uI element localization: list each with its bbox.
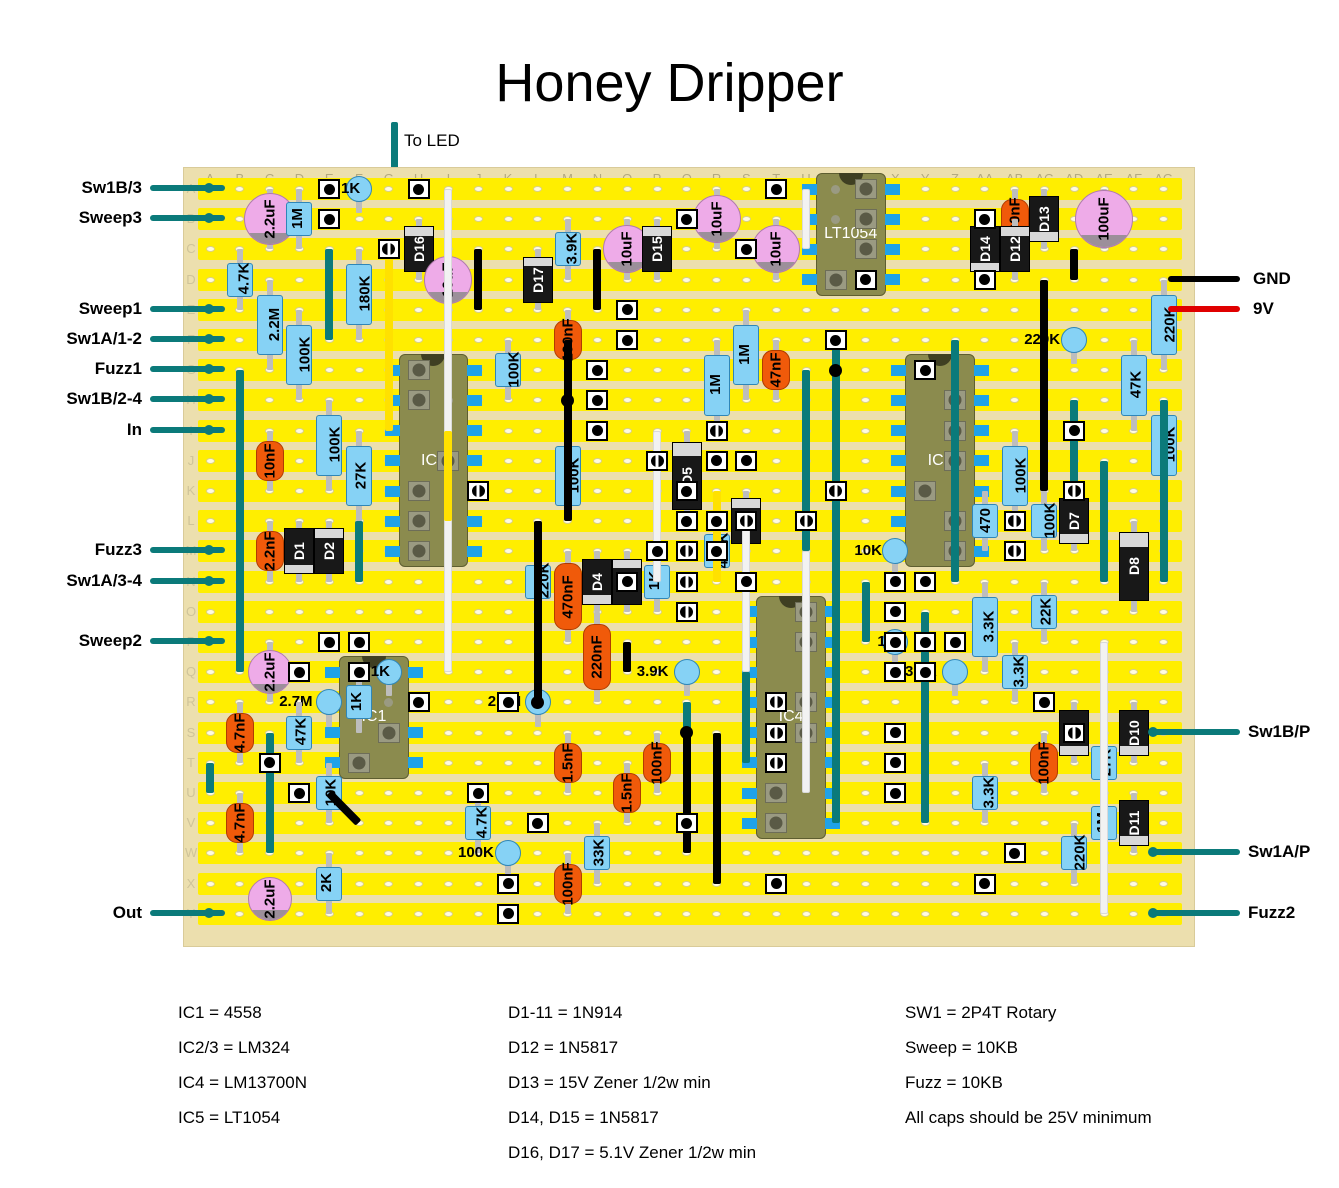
resistor-1M: 1M: [704, 355, 730, 416]
capacitor-1.5nF: 1.5nF: [554, 743, 582, 783]
track-cut: [855, 270, 877, 290]
cut-marker: [681, 486, 692, 497]
hole: [295, 639, 304, 645]
hole: [384, 881, 393, 887]
ic-pin-left: [802, 274, 817, 285]
cut-marker: [979, 214, 990, 225]
cut-marker: [413, 184, 424, 195]
cut-marker: [830, 335, 841, 346]
hole: [1129, 458, 1138, 464]
hole: [504, 488, 513, 494]
hole: [623, 428, 632, 434]
resistor-33K: 33K: [584, 836, 610, 870]
terminal-wire-fuzz2: [1150, 910, 1240, 916]
hole: [504, 730, 513, 736]
diode-D17: D17: [523, 257, 553, 303]
resistor-value: 1M: [736, 344, 753, 365]
capacitor-value: 2.2uF: [261, 200, 278, 239]
jumper-link: [951, 340, 959, 582]
cut-marker: [503, 878, 514, 889]
resistor-value: 10K: [854, 542, 882, 559]
resistor-value: 180K: [356, 276, 373, 312]
track-cut: [318, 179, 340, 199]
capacitor-value: 2.2uF: [261, 653, 278, 692]
hole: [474, 186, 483, 192]
hole: [1070, 669, 1079, 675]
track-cut: [616, 572, 638, 592]
hole: [206, 518, 215, 524]
hole: [384, 609, 393, 615]
hole: [295, 458, 304, 464]
hole: [623, 367, 632, 373]
diode-label: D7: [1066, 512, 1082, 530]
hole: [1070, 367, 1079, 373]
resistor-value: 100K: [327, 427, 344, 463]
cut-marker: [890, 576, 901, 587]
capacitor-value: 470nF: [559, 575, 576, 618]
hole: [1129, 307, 1138, 313]
socket-hole: [412, 485, 425, 498]
hole: [474, 579, 483, 585]
hole: [980, 730, 989, 736]
terminal-pad: [204, 304, 214, 314]
hole: [653, 820, 662, 826]
hole: [1070, 609, 1079, 615]
cut-marker: [592, 395, 603, 406]
to-led-label: To LED: [404, 131, 460, 151]
resistor-220K: [1061, 327, 1087, 353]
ic-socket-pin: [914, 481, 936, 501]
jumper-link: [742, 672, 750, 763]
hole: [861, 730, 870, 736]
cut-marker: [860, 274, 871, 285]
track-cut: [825, 481, 847, 501]
hole: [1129, 911, 1138, 917]
cut-marker: [324, 637, 335, 648]
cathode-band: [524, 258, 552, 267]
vero-layout-diagram: Honey Dripper To LED ABCDEFGHIJKLMNOPQRS…: [0, 0, 1339, 1188]
jumper-link: [862, 582, 870, 642]
diode-label: D8: [1126, 558, 1142, 576]
hole: [474, 609, 483, 615]
wire-black: [1070, 249, 1078, 279]
hole: [921, 911, 930, 917]
hole: [831, 911, 840, 917]
hole: [474, 881, 483, 887]
ic-pin-left: [891, 516, 906, 527]
hole: [1100, 337, 1109, 343]
legend-line: IC4 = LM13700N: [178, 1065, 307, 1100]
capacitor-value: 47nF: [768, 353, 785, 388]
track-cut: [616, 330, 638, 350]
hole: [414, 609, 423, 615]
hole: [772, 579, 781, 585]
hole: [474, 730, 483, 736]
hole: [295, 911, 304, 917]
diode-label: D2: [321, 542, 337, 560]
row-label-S: S: [185, 725, 197, 740]
capacitor-47nF: 47nF: [762, 350, 790, 390]
socket-hole: [859, 243, 872, 256]
cut-marker: [681, 214, 692, 225]
row-label-R: R: [185, 694, 197, 709]
track-cut: [884, 572, 906, 592]
hole: [504, 609, 513, 615]
terminal-pad: [1148, 908, 1158, 918]
hole: [951, 730, 960, 736]
ic-pin-right: [408, 727, 423, 738]
diode-D8: D8: [1119, 532, 1149, 601]
resistor-100K: 100K: [495, 353, 521, 387]
hole: [1010, 579, 1019, 585]
resistor-100K: 100K: [1002, 446, 1028, 507]
legend-column-3: SW1 = 2P4T RotarySweep = 10KBFuzz = 10KB…: [905, 995, 1152, 1135]
terminal-wire-9v: [1168, 306, 1240, 312]
hole: [1100, 277, 1109, 283]
wire-white: [802, 189, 810, 249]
track-cut: [288, 662, 310, 682]
hole: [414, 911, 423, 917]
resistor-value: 3.3K: [980, 610, 997, 642]
hole: [444, 881, 453, 887]
jumper-link: [206, 763, 214, 793]
track-cut: [348, 662, 370, 682]
cut-marker: [800, 515, 813, 527]
socket-hole: [412, 364, 425, 377]
legend-line: IC5 = LT1054: [178, 1100, 307, 1135]
cut-marker: [920, 365, 931, 376]
wire-white: [802, 551, 810, 793]
row-label-J: J: [185, 453, 197, 468]
hole: [1159, 881, 1168, 887]
socket-hole: [770, 787, 783, 800]
hole: [504, 518, 513, 524]
track-cut: [974, 270, 996, 290]
cut-marker: [711, 455, 722, 466]
diode-D1: D1: [284, 528, 314, 574]
terminal-wire-sw1b-p: [1150, 729, 1240, 735]
cathode-band: [1060, 746, 1088, 755]
row-label-V: V: [185, 815, 197, 830]
hole: [593, 488, 602, 494]
legend-line: IC1 = 4558: [178, 995, 307, 1030]
cut-marker: [829, 485, 842, 497]
cut-marker: [1008, 515, 1021, 527]
cut-marker: [890, 727, 901, 738]
hole: [206, 730, 215, 736]
capacitor-value: 10uF: [708, 202, 725, 237]
track-cut: [676, 511, 698, 531]
jumper-link: [236, 370, 244, 672]
diode-label: D15: [649, 237, 665, 263]
terminal-label-9v: 9V: [1253, 299, 1274, 319]
resistor-3.9K: [942, 659, 968, 685]
legend-column-2: D1-11 = 1N914D12 = 1N5817D13 = 15V Zener…: [508, 995, 756, 1170]
hole: [504, 790, 513, 796]
ic-socket-pin: [855, 209, 877, 229]
terminal-label-in: In: [0, 420, 142, 440]
diode-label: D12: [1007, 237, 1023, 263]
terminal-pad: [1148, 727, 1158, 737]
track-cut: [318, 209, 340, 229]
terminal-pad: [204, 183, 214, 193]
terminal-label-fuzz2: Fuzz2: [1248, 903, 1295, 923]
terminal-label-sw1b-p: Sw1B/P: [1248, 722, 1310, 742]
cut-marker: [979, 274, 990, 285]
hole: [861, 458, 870, 464]
hole: [593, 760, 602, 766]
resistor-value: 4.7K: [474, 807, 491, 839]
cut-marker: [920, 576, 931, 587]
track-cut: [914, 572, 936, 592]
capacitor-100nF: 100nF: [643, 743, 671, 783]
hole: [593, 458, 602, 464]
hole: [980, 911, 989, 917]
wire-black: [623, 642, 631, 672]
track-cut: [765, 753, 787, 773]
track-cut: [676, 541, 698, 561]
ic-socket-pin: [855, 239, 877, 259]
ic-socket-pin: [765, 813, 787, 833]
hole: [742, 881, 751, 887]
cut-marker: [622, 576, 633, 587]
jumper-link: [1100, 461, 1108, 582]
hole: [891, 881, 900, 887]
capacitor-value: 220nF: [589, 635, 606, 678]
track-cut: [735, 451, 757, 471]
ic-pin-left: [891, 395, 906, 406]
socket-hole: [770, 817, 783, 830]
diode-label: D1: [291, 542, 307, 560]
resistor-value: 100K: [1012, 457, 1029, 493]
resistor-value: 1K: [348, 692, 365, 711]
socket-hole: [859, 183, 872, 196]
cut-marker: [741, 455, 752, 466]
wire-yellow: [444, 431, 452, 522]
track-cut: [884, 662, 906, 682]
capacitor-value: 4.7nF: [231, 804, 248, 843]
electrolytic-cap-10uF: 10uF: [693, 195, 741, 243]
hole: [206, 277, 215, 283]
resistor-value: 1M: [707, 374, 724, 395]
track-cut: [259, 753, 281, 773]
hole: [414, 881, 423, 887]
hole: [295, 881, 304, 887]
track-cut: [765, 179, 787, 199]
hole: [414, 307, 423, 313]
track-cut: [586, 360, 608, 380]
row-label-K: K: [185, 483, 197, 498]
ic-pin-right: [467, 425, 482, 436]
cut-marker: [680, 545, 693, 557]
terminal-label-sweep2: Sweep2: [0, 631, 142, 651]
track-cut: [586, 390, 608, 410]
track-cut: [467, 481, 489, 501]
cut-marker: [741, 576, 752, 587]
diode-D12: D12: [1000, 226, 1030, 272]
hole: [474, 911, 483, 917]
hole: [772, 911, 781, 917]
terminal-label-sweep1: Sweep1: [0, 299, 142, 319]
diode-D2: D2: [314, 528, 344, 574]
socket-hole: [829, 273, 842, 286]
resistor-100K: 100K: [1031, 504, 1057, 538]
hole: [325, 367, 334, 373]
cut-marker: [771, 184, 782, 195]
socket-hole: [382, 726, 395, 739]
track-cut: [735, 511, 757, 531]
hole: [474, 639, 483, 645]
cut-marker: [710, 425, 723, 437]
resistor-100K: 100K: [286, 325, 312, 386]
cut-marker: [324, 184, 335, 195]
cut-marker: [413, 697, 424, 708]
hole: [295, 609, 304, 615]
hole: [951, 881, 960, 887]
track-cut: [944, 632, 966, 652]
hole: [623, 458, 632, 464]
hole: [593, 911, 602, 917]
hole: [1070, 911, 1079, 917]
ic-pad: [831, 215, 840, 224]
terminal-label-fuzz1: Fuzz1: [0, 359, 142, 379]
capacitor-10nF: 10nF: [256, 441, 284, 481]
ic-pin-right: [467, 395, 482, 406]
hole: [504, 639, 513, 645]
hole: [1040, 911, 1049, 917]
track-cut: [974, 209, 996, 229]
cut-marker: [680, 576, 693, 588]
diode-label: D16: [411, 237, 427, 263]
capacitor-value: 100nF: [559, 862, 576, 905]
terminal-label-out: Out: [0, 903, 142, 923]
track-cut: [706, 421, 728, 441]
jumper-link: [266, 733, 274, 854]
hole: [1010, 307, 1019, 313]
cathode-band: [315, 529, 343, 538]
hole: [355, 609, 364, 615]
capacitor-value: 100nF: [649, 741, 666, 784]
track-cut: [1063, 421, 1085, 441]
hole: [206, 458, 215, 464]
capacitor-value: 100uF: [1096, 198, 1113, 241]
cut-marker: [890, 667, 901, 678]
hole: [653, 337, 662, 343]
track-cut: [706, 511, 728, 531]
resistor-220K: 220K: [1151, 295, 1177, 356]
hole: [1010, 881, 1019, 887]
row-label-D: D: [185, 272, 197, 287]
track-cut: [586, 421, 608, 441]
hole: [593, 730, 602, 736]
hole: [653, 367, 662, 373]
hole: [504, 307, 513, 313]
ic-pin-left: [385, 516, 400, 527]
hole: [533, 881, 542, 887]
row-label-U: U: [185, 785, 197, 800]
hole: [1129, 277, 1138, 283]
resistor-value: 27K: [352, 461, 369, 489]
ic-pin-right: [467, 455, 482, 466]
cut-marker: [1068, 485, 1081, 497]
resistor-value: 3.9K: [637, 663, 669, 680]
ic-pin-right: [974, 425, 989, 436]
row-label-O: O: [185, 604, 197, 619]
cut-marker: [770, 757, 783, 769]
hole: [861, 307, 870, 313]
track-cut: [884, 753, 906, 773]
cut-marker: [681, 818, 692, 829]
track-cut: [318, 632, 340, 652]
hole: [951, 216, 960, 222]
diode-D13: D13: [1029, 196, 1059, 242]
hole: [682, 881, 691, 887]
hole: [206, 881, 215, 887]
cut-marker: [1009, 848, 1020, 859]
hole: [951, 609, 960, 615]
ic-pin-left: [891, 486, 906, 497]
wire-yellow: [713, 491, 721, 582]
wire-black: [713, 733, 721, 884]
cathode-band: [1120, 746, 1148, 755]
track-cut: [646, 541, 668, 561]
ic-pin-left: [385, 546, 400, 557]
resistor-value: 100K: [458, 844, 494, 861]
cut-marker: [354, 637, 365, 648]
hole: [772, 458, 781, 464]
resistor-100K: 100K: [316, 415, 342, 476]
ic-pin-right: [974, 365, 989, 376]
ic-pin-right: [467, 365, 482, 376]
hole: [921, 216, 930, 222]
resistor-27K: 27K: [346, 446, 372, 507]
terminal-pad: [204, 425, 214, 435]
hole: [1129, 881, 1138, 887]
hole: [593, 337, 602, 343]
cut-marker: [651, 455, 664, 467]
track-cut: [676, 481, 698, 501]
capacitor-220nF: 220nF: [583, 624, 611, 691]
cathode-band: [1030, 232, 1058, 241]
hole: [951, 307, 960, 313]
legend-line: D1-11 = 1N914: [508, 995, 756, 1030]
track-cut: [884, 723, 906, 743]
ic-pin-left: [385, 455, 400, 466]
hole: [921, 337, 930, 343]
wire-black: [683, 733, 691, 854]
hole: [623, 911, 632, 917]
hole: [295, 277, 304, 283]
capacitor-4.7nF: 4.7nF: [226, 713, 254, 753]
electrolytic-cap-2.2uF: 2.2uF: [248, 877, 292, 921]
resistor-3.9K: [674, 659, 700, 685]
hole: [951, 186, 960, 192]
hole: [474, 760, 483, 766]
ic-pin-left: [891, 365, 906, 376]
hole: [384, 579, 393, 585]
ic-pin-right: [885, 184, 900, 195]
electrolytic-cap-2.2uF: 2.2uF: [248, 650, 292, 694]
resistor-value: 2K: [318, 873, 335, 892]
track-cut: [884, 632, 906, 652]
hole: [742, 186, 751, 192]
resistor-value: 470: [977, 508, 994, 533]
track-cut: [497, 874, 519, 894]
hole: [623, 488, 632, 494]
hole: [951, 277, 960, 283]
ic-pin-left: [742, 818, 757, 829]
ic-pin-right: [974, 455, 989, 466]
